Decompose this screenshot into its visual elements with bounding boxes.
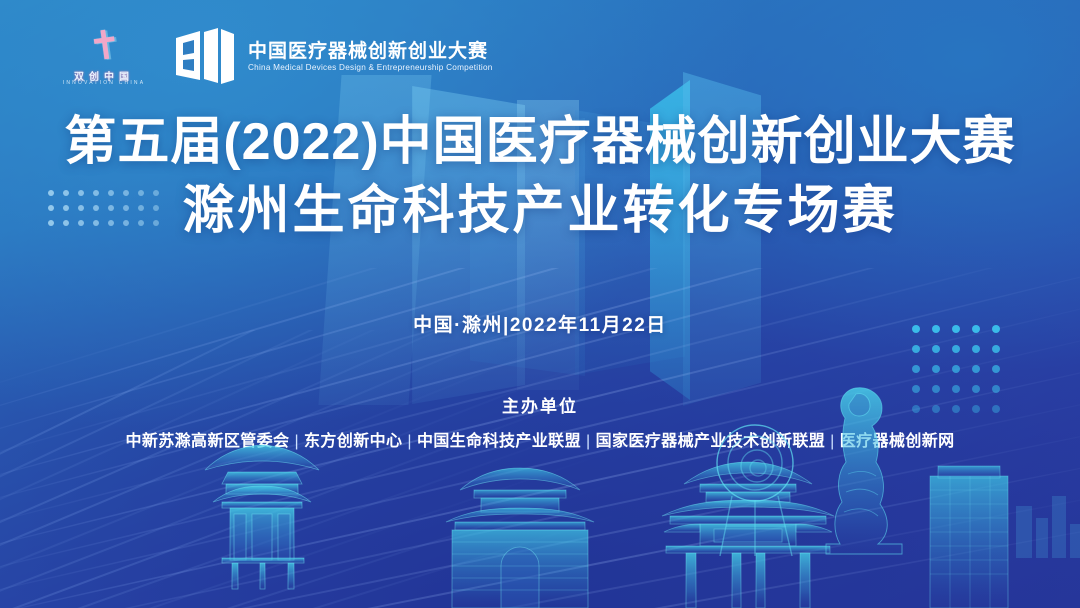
event-banner: ✝ 双创中国 INNOVATION CHINA 中国医疗器械创新创业大赛 Chi… [0,0,1080,608]
competition-logo-en: China Medical Devices Design & Entrepren… [248,64,493,72]
open-book-mark-icon [174,28,236,86]
event-datetime: 中国·滁州|2022年11月22日 [0,310,1080,337]
title-line-2: 滁州生命科技产业转化专场赛 [0,181,1080,242]
header-logos: ✝ 双创中国 INNOVATION CHINA 中国医疗器械创新创业大赛 Chi… [58,24,493,90]
chinese-pavilion-icon [205,445,319,589]
modern-tower-icon [930,466,1008,608]
innovation-china-logo: ✝ 双创中国 INNOVATION CHINA [58,24,150,90]
dove-bird-icon: ✝ [69,20,140,73]
innovation-china-logo-en: INNOVATION CHINA [58,80,150,86]
organizers-label: 主办单位 [0,392,1080,417]
competition-logo-cn: 中国医疗器械创新创业大赛 [248,42,493,61]
decor-dot [912,345,920,353]
decor-dot [972,365,980,373]
decor-dot [972,345,980,353]
title-line-1: 第五届(2022)中国医疗器械创新创业大赛 [0,112,1080,173]
decor-dot [932,365,940,373]
decor-dot [932,345,940,353]
decor-dot [952,365,960,373]
city-gate-icon [446,468,594,608]
skyline-silhouette [0,428,1080,608]
decor-dot [912,365,920,373]
decor-dot [992,365,1000,373]
page-title: 第五届(2022)中国医疗器械创新创业大赛 滁州生命科技产业转化专场赛 [0,112,1080,243]
competition-logo: 中国医疗器械创新创业大赛 China Medical Devices Desig… [174,28,493,86]
memorial-archway-icon [662,462,834,608]
decor-dot [992,345,1000,353]
decor-dot [952,345,960,353]
